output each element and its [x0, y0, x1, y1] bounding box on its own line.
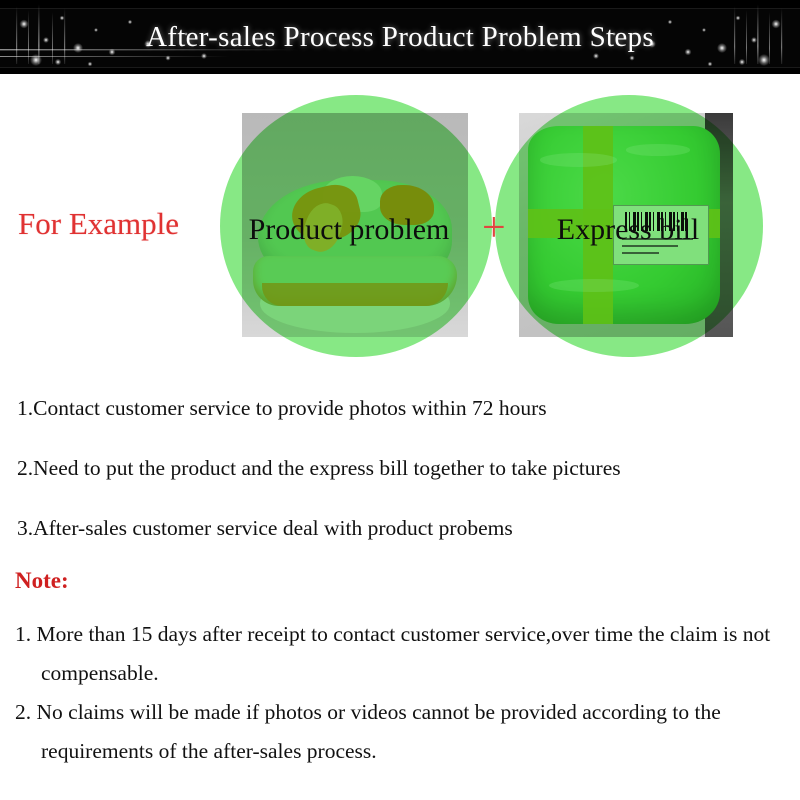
- step-item-2: 2.Need to put the product and the expres…: [0, 456, 621, 481]
- page-title: After-sales Process Product Problem Step…: [0, 0, 800, 74]
- step-item-3: 3.After-sales customer service deal with…: [0, 516, 513, 541]
- after-sales-infographic: After-sales Process Product Problem Step…: [0, 0, 800, 800]
- product-problem-photo: Product problem: [242, 113, 468, 337]
- parcel-wrinkle-1: [540, 153, 617, 166]
- example-row: For Example Product problem +: [0, 74, 800, 364]
- express-bill-photo: Express bill: [519, 113, 733, 337]
- shoe-outsole-shape: [262, 283, 447, 305]
- header-banner: After-sales Process Product Problem Step…: [0, 0, 800, 74]
- parcel-wrinkle-3: [549, 279, 639, 292]
- label-text-line-3: [622, 252, 660, 254]
- note-item-1: 1. More than 15 days after receipt to co…: [15, 615, 800, 693]
- note-title: Note:: [15, 568, 69, 594]
- note-item-2: 2. No claims will be made if photos or v…: [15, 693, 800, 771]
- step-item-1: 1.Contact customer service to provide ph…: [0, 396, 547, 421]
- plus-icon: +: [482, 207, 506, 249]
- express-bill-caption: Express bill: [521, 213, 735, 247]
- product-problem-caption: Product problem: [236, 213, 462, 247]
- for-example-label: For Example: [18, 206, 179, 242]
- parcel-wrinkle-2: [626, 144, 690, 155]
